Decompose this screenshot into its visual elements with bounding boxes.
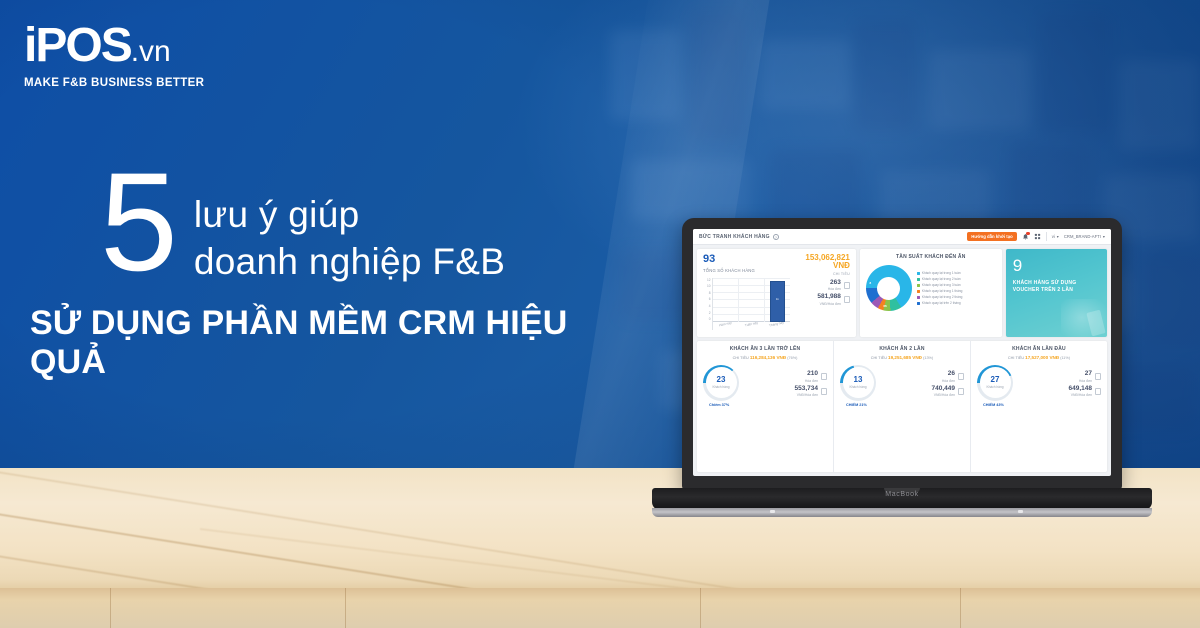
document-icon: [821, 388, 827, 395]
total-customers-value: 93: [703, 254, 790, 265]
document-icon: [1095, 373, 1101, 380]
customer-segments-row: KHÁCH ĂN 3 LẦN TRỞ LÊNCHI TIÊU 116,284,1…: [697, 341, 1107, 472]
segment-kpis: 26Hóa đơn740,449VNĐ/Hóa đơn: [876, 368, 964, 397]
legend-label: Khách quay lại trong 3 tuần: [922, 283, 961, 287]
legend-swatch: [917, 290, 920, 293]
bar-chart-y-axis: 12 10 8 6 4 2 0: [703, 278, 712, 330]
legend-label: Khách quay lại trong 1 tuần: [922, 271, 961, 275]
question-circle-icon[interactable]: ?: [773, 234, 779, 240]
legend-item[interactable]: Khách quay lại trong 1 tháng: [917, 289, 996, 293]
spend-value: 116,284,136 VNĐ: [750, 355, 786, 360]
segment-avg-kpi: 740,449VNĐ/Hóa đơn: [879, 386, 964, 397]
segment-share: CHIẾM 21%: [840, 403, 964, 407]
laptop-base: MacBook: [652, 488, 1152, 510]
frequency-legend: Khách quay lại trong 1 tuầnKhách quay lạ…: [917, 271, 996, 305]
bell-icon[interactable]: [1022, 233, 1029, 240]
legend-label: Khách quay lại trong 2 tuần: [922, 277, 961, 281]
segment-share: CHIẾM 43%: [977, 403, 1101, 407]
foot-dot: [1018, 510, 1023, 513]
logo-wordmark: iPOS.vn: [24, 22, 224, 70]
x-tick: Hôm nay: [712, 319, 739, 332]
segment-invoice-kpi: 210Hóa đơn: [742, 371, 827, 382]
y-tick: 8: [703, 291, 711, 295]
segment-body: 13Khách hàng26Hóa đơn740,449VNĐ/Hóa đơn: [840, 365, 964, 401]
spend-value: 19,251,685 VNĐ: [888, 355, 922, 360]
gauge-value: 13: [854, 376, 863, 384]
bar-chart-plot: 11 Hôm nay Tuần này Tháng này: [712, 278, 790, 330]
spend-prefix: CHI TIÊU: [733, 356, 749, 360]
laptop-lid: BỨC TRANH KHÁCH HÀNG ? Hướng dẫn khởi tạ…: [682, 218, 1122, 490]
y-tick: 4: [703, 304, 711, 308]
total-customers-label: TỔNG SỐ KHÁCH HÀNG: [703, 268, 790, 273]
spend-prefix: CHI TIÊU: [871, 356, 887, 360]
segment-avg-value: 553,734: [795, 386, 819, 393]
spend-value: 17,527,000 VNĐ: [1025, 355, 1059, 360]
laptop-model-label: MacBook: [652, 491, 1152, 498]
customer-overview-left: 93 TỔNG SỐ KHÁCH HÀNG 12 10 8 6 4: [703, 254, 790, 332]
segment-invoice-kpi: 27Hóa đơn: [1016, 371, 1101, 382]
legend-swatch: [917, 272, 920, 275]
guide-button[interactable]: Hướng dẫn khởi tạo: [967, 232, 1016, 241]
headline-line-1: lưu ý giúp: [194, 191, 505, 238]
customer-overview-right: 153,062,821 VNĐ CHI TIÊU 263 Hóa đơn: [790, 254, 850, 332]
brand-label: CRM_BRAND-AFTI: [1064, 234, 1101, 239]
segment-invoice-label: Hóa đơn: [942, 379, 955, 383]
laptop-mockup: BỨC TRANH KHÁCH HÀNG ? Hướng dẫn khởi tạ…: [652, 218, 1152, 528]
legend-item[interactable]: Khách quay lại trong 3 tuần: [917, 283, 996, 287]
invoice-value: 263: [828, 280, 841, 287]
logo-tagline: MAKE F&B BUSINESS BETTER: [24, 77, 224, 89]
header-actions: Hướng dẫn khởi tạo vi ▾: [967, 232, 1105, 241]
document-icon: [1095, 388, 1101, 395]
visit-frequency-card: TẦN SUẤT KHÁCH ĐẾN ĂN 66 8 Khách quay lạ…: [860, 249, 1002, 337]
segment-title: KHÁCH ĂN 2 LẦN: [840, 346, 964, 352]
legend-item[interactable]: Khách quay lại trong 1 tuần: [917, 271, 996, 275]
y-tick: 2: [703, 311, 711, 315]
frequency-body: 66 8 Khách quay lại trong 1 tuầnKhách qu…: [866, 265, 996, 311]
header-divider: [1046, 232, 1047, 241]
legend-label: Khách quay lại trong 1 tháng: [922, 289, 963, 293]
avg-label: VNĐ/Hóa đơn: [817, 302, 841, 306]
voucher-count: 9: [1013, 258, 1100, 274]
segment-gauge-chart[interactable]: 27Khách hàng: [977, 365, 1013, 401]
bar-columns: 11: [713, 278, 790, 322]
legend-swatch: [917, 302, 920, 305]
legend-label: Khách quay lại trong 2 tháng: [922, 295, 963, 299]
frequency-title: TẦN SUẤT KHÁCH ĐẾN ĂN: [866, 254, 996, 260]
segment-avg-kpi: 649,148VNĐ/Hóa đơn: [1016, 386, 1101, 397]
language-label: vi: [1052, 234, 1055, 239]
foot-dot: [770, 510, 775, 513]
segment-avg-label: VNĐ/Hóa đơn: [795, 393, 819, 397]
segment-body: 27Khách hàng27Hóa đơn649,148VNĐ/Hóa đơn: [977, 365, 1101, 401]
headline-block: 5 lưu ý giúp doanh nghiệp F&B SỬ DỤNG PH…: [30, 165, 640, 382]
segment-invoice-value: 27: [1079, 371, 1092, 378]
voucher-usage-card: 9 KHÁCH HÀNG SỬ DỤNG VOUCHER TRÊN 2 LẦN: [1006, 249, 1107, 337]
table-edge: [0, 588, 1200, 628]
segment-spend: CHI TIÊU 116,284,136 VNĐ (76%): [703, 355, 827, 360]
segment-avg-value: 740,449: [932, 386, 956, 393]
segment-gauge-chart[interactable]: 23Khách hàng: [703, 365, 739, 401]
headline-lines: lưu ý giúp doanh nghiệp F&B: [194, 165, 505, 286]
gauge-value: 23: [717, 376, 726, 384]
notification-badge: [1026, 232, 1029, 235]
gauge-center: 13Khách hàng: [843, 367, 874, 398]
segment-invoice-label: Hóa đơn: [1079, 379, 1092, 383]
segment-kpis: 210Hóa đơn553,734VNĐ/Hóa đơn: [739, 368, 827, 397]
bar-month[interactable]: 11: [770, 281, 785, 321]
customer-segment-panel: KHÁCH ĂN 2 LẦNCHI TIÊU 19,251,685 VNĐ (1…: [833, 341, 970, 472]
bar-chart-x-axis: Hôm nay Tuần này Tháng này: [713, 322, 790, 330]
segment-body: 23Khách hàng210Hóa đơn553,734VNĐ/Hóa đơn: [703, 365, 827, 401]
segment-spend: CHI TIÊU 17,527,000 VNĐ (11%): [977, 355, 1101, 360]
avg-kpi: 581,988 VNĐ/Hóa đơn: [794, 294, 850, 305]
y-tick: 0: [703, 317, 711, 321]
spend-currency: VNĐ: [794, 262, 850, 271]
invoice-label: Hóa đơn: [828, 287, 841, 291]
apps-icon[interactable]: [1034, 233, 1041, 240]
bar-col-today: [713, 278, 738, 322]
headline-number: 5: [100, 165, 174, 280]
voucher-line-2: VOUCHER TRÊN 2 LẦN: [1013, 287, 1100, 293]
document-icon: [958, 388, 964, 395]
segment-spend: CHI TIÊU 19,251,685 VNĐ (13%): [840, 355, 964, 360]
segment-title: KHÁCH ĂN LẦN ĐẦU: [977, 346, 1101, 352]
legend-swatch: [917, 296, 920, 299]
spend-percent: (76%): [787, 356, 797, 360]
ipos-logo[interactable]: iPOS.vn MAKE F&B BUSINESS BETTER: [24, 22, 224, 89]
bar-value-label: 11: [771, 298, 784, 301]
laptop-foot: [652, 508, 1152, 517]
legend-swatch: [917, 278, 920, 281]
gauge-label: Khách hàng: [986, 385, 1003, 389]
segment-title: KHÁCH ĂN 3 LẦN TRỞ LÊN: [703, 346, 827, 352]
segment-invoice-value: 26: [942, 371, 955, 378]
segment-invoice-value: 210: [805, 371, 818, 378]
logo-suffix-text: .vn: [131, 35, 171, 68]
bar-col-month: 11: [764, 278, 790, 322]
segment-share: Chiếm 37%: [703, 403, 827, 407]
x-tick: Tháng này: [764, 319, 791, 332]
customers-bar-chart: 12 10 8 6 4 2 0: [703, 278, 790, 330]
crm-dashboard: BỨC TRANH KHÁCH HÀNG ? Hướng dẫn khởi tạ…: [693, 229, 1111, 476]
y-tick: 10: [703, 284, 711, 288]
legend-item[interactable]: Khách quay lại trong 2 tháng: [917, 295, 996, 299]
donut-hole: [877, 277, 900, 300]
legend-item[interactable]: Khách quay lại trong 2 tuần: [917, 277, 996, 281]
spend-label: CHI TIÊU: [794, 272, 850, 276]
legend-item[interactable]: Khách quay lại trên 2 tháng: [917, 301, 996, 305]
legend-swatch: [917, 284, 920, 287]
logo-main-text: iPOS: [24, 19, 131, 72]
document-icon: [821, 373, 827, 380]
segment-avg-kpi: 553,734VNĐ/Hóa đơn: [742, 386, 827, 397]
segment-avg-label: VNĐ/Hóa đơn: [932, 393, 956, 397]
gauge-center: 23Khách hàng: [706, 367, 737, 398]
dashboard-header: BỨC TRANH KHÁCH HÀNG ? Hướng dẫn khởi tạ…: [693, 229, 1111, 245]
customer-segment-panel: KHÁCH ĂN LẦN ĐẦUCHI TIÊU 17,527,000 VNĐ …: [970, 341, 1107, 472]
segment-gauge-chart[interactable]: 13Khách hàng: [840, 365, 876, 401]
y-tick: 6: [703, 297, 711, 301]
document-icon: [958, 373, 964, 380]
document-icon: [844, 296, 850, 303]
headline-line-2: doanh nghiệp F&B: [194, 238, 505, 285]
language-select[interactable]: vi ▾: [1052, 234, 1059, 239]
document-icon: [844, 282, 850, 289]
customer-segment-panel: KHÁCH ĂN 3 LẦN TRỞ LÊNCHI TIÊU 116,284,1…: [697, 341, 833, 472]
avg-value: 581,988: [817, 294, 841, 301]
spend-prefix: CHI TIÊU: [1008, 356, 1024, 360]
frequency-donut-chart[interactable]: 66 8: [866, 265, 912, 311]
page-title: BỨC TRANH KHÁCH HÀNG: [699, 234, 770, 240]
laptop-screen: BỨC TRANH KHÁCH HÀNG ? Hướng dẫn khởi tạ…: [693, 229, 1111, 476]
chevron-down-icon: ▾: [1103, 234, 1105, 239]
chevron-down-icon: ▾: [1057, 234, 1059, 239]
headline-subtitle: SỬ DỤNG PHẦN MỀM CRM HIỆU QUẢ: [30, 304, 640, 382]
donut-second-label: 8: [870, 281, 872, 285]
segment-kpis: 27Hóa đơn649,148VNĐ/Hóa đơn: [1013, 368, 1101, 397]
customer-overview-card: 93 TỔNG SỐ KHÁCH HÀNG 12 10 8 6 4: [697, 249, 856, 337]
segment-invoice-kpi: 26Hóa đơn: [879, 371, 964, 382]
spend-percent: (11%): [1060, 356, 1070, 360]
gauge-value: 27: [991, 376, 1000, 384]
spend-percent: (13%): [923, 356, 933, 360]
gauge-label: Khách hàng: [849, 385, 866, 389]
brand-select[interactable]: CRM_BRAND-AFTI ▾: [1064, 234, 1105, 239]
gauge-center: 27Khách hàng: [980, 367, 1011, 398]
gauge-label: Khách hàng: [712, 385, 729, 389]
invoice-kpi: 263 Hóa đơn: [794, 280, 850, 291]
bar-col-week: [738, 278, 764, 322]
dashboard-row-top: 93 TỔNG SỐ KHÁCH HÀNG 12 10 8 6 4: [697, 249, 1107, 337]
donut-main-label: 66: [883, 304, 886, 308]
headline-row: 5 lưu ý giúp doanh nghiệp F&B: [30, 165, 640, 286]
segment-avg-label: VNĐ/Hóa đơn: [1069, 393, 1093, 397]
legend-label: Khách quay lại trên 2 tháng: [922, 301, 961, 305]
dashboard-body: 93 TỔNG SỐ KHÁCH HÀNG 12 10 8 6 4: [693, 245, 1111, 476]
voucher-line-1: KHÁCH HÀNG SỬ DỤNG: [1013, 280, 1100, 286]
x-tick: Tuần này: [738, 319, 765, 332]
segment-invoice-label: Hóa đơn: [805, 379, 818, 383]
segment-avg-value: 649,148: [1069, 386, 1093, 393]
y-tick: 12: [703, 278, 711, 282]
